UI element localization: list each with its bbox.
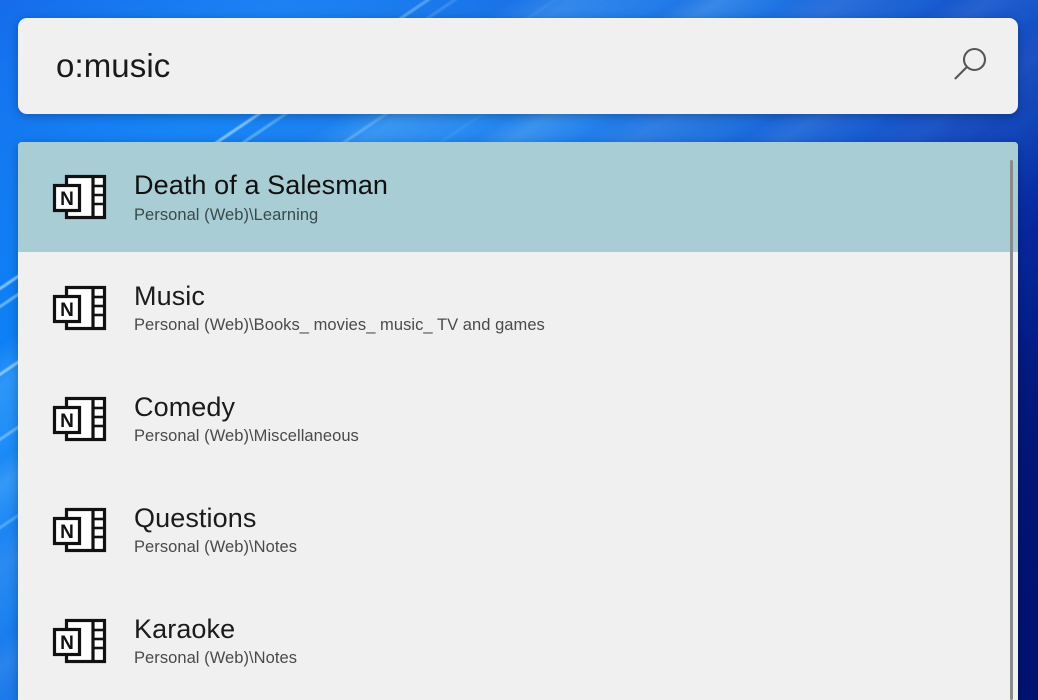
search-result-item-3[interactable]: N Questions Personal (Web)\Notes xyxy=(18,474,1018,585)
svg-text:N: N xyxy=(60,189,74,210)
search-result-item-1[interactable]: N Music Personal (Web)\Books_ movies_ mu… xyxy=(18,252,1018,363)
search-result-text: Karaoke Personal (Web)\Notes xyxy=(134,614,297,667)
onenote-icon: N xyxy=(52,395,108,443)
search-result-text: Music Personal (Web)\Books_ movies_ musi… xyxy=(134,281,545,334)
search-result-text: Death of a Salesman Personal (Web)\Learn… xyxy=(134,170,388,223)
search-result-subtitle: Personal (Web)\Notes xyxy=(134,538,297,556)
svg-text:N: N xyxy=(60,411,74,432)
search-bar[interactable] xyxy=(18,18,1018,114)
search-result-title: Questions xyxy=(134,503,297,533)
svg-text:N: N xyxy=(60,522,74,543)
svg-text:N: N xyxy=(60,300,74,321)
search-icon xyxy=(947,42,993,91)
search-result-item-0[interactable]: N Death of a Salesman Personal (Web)\Lea… xyxy=(18,142,1018,252)
onenote-icon: N xyxy=(52,617,108,665)
search-result-title: Music xyxy=(134,281,545,311)
search-result-title: Death of a Salesman xyxy=(134,170,388,200)
search-result-text: Questions Personal (Web)\Notes xyxy=(134,503,297,556)
scrollbar-thumb[interactable] xyxy=(1010,160,1013,700)
search-input[interactable] xyxy=(18,47,922,85)
search-result-item-2[interactable]: N Comedy Personal (Web)\Miscellaneous xyxy=(18,363,1018,474)
svg-text:N: N xyxy=(60,633,74,654)
onenote-icon: N xyxy=(52,173,108,221)
search-result-subtitle: Personal (Web)\Books_ movies_ music_ TV … xyxy=(134,316,545,334)
results-scrollbar[interactable] xyxy=(1006,142,1016,700)
search-result-text: Comedy Personal (Web)\Miscellaneous xyxy=(134,392,359,445)
search-result-title: Comedy xyxy=(134,392,359,422)
search-result-subtitle: Personal (Web)\Learning xyxy=(134,206,388,224)
search-result-title: Karaoke xyxy=(134,614,297,644)
onenote-icon: N xyxy=(52,284,108,332)
search-result-item-4[interactable]: N Karaoke Personal (Web)\Notes xyxy=(18,585,1018,696)
onenote-icon: N xyxy=(52,506,108,554)
search-result-subtitle: Personal (Web)\Miscellaneous xyxy=(134,427,359,445)
search-results-panel: N Death of a Salesman Personal (Web)\Lea… xyxy=(18,142,1018,700)
search-result-subtitle: Personal (Web)\Notes xyxy=(134,649,297,667)
search-button[interactable] xyxy=(922,18,1018,114)
search-results-list: N Death of a Salesman Personal (Web)\Lea… xyxy=(18,142,1018,696)
